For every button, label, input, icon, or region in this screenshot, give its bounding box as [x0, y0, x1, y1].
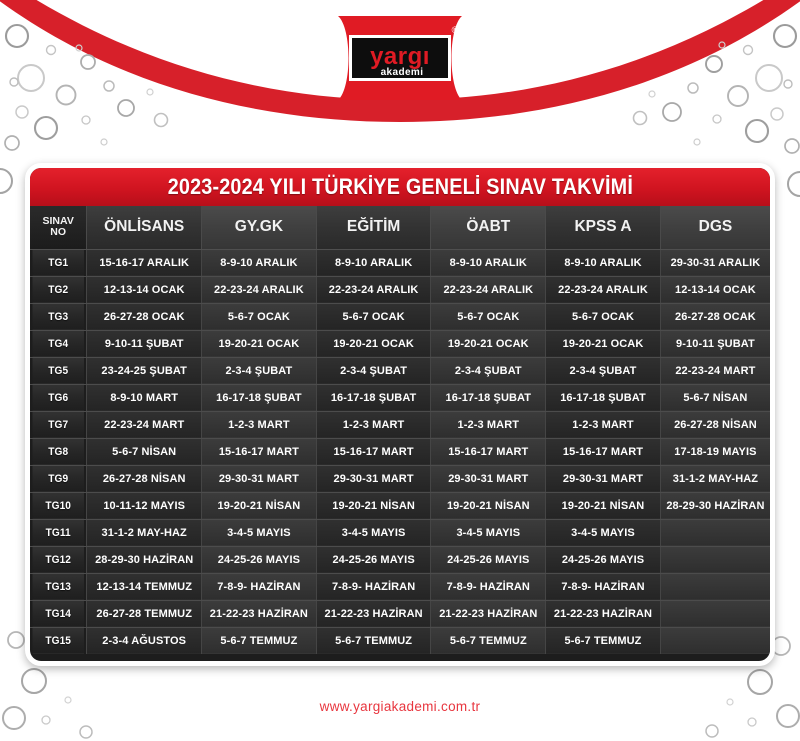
exam-date-cell: 5-6-7 TEMMUZ [546, 627, 661, 654]
exam-date-cell: 15-16-17 MART [202, 438, 317, 465]
exam-number-cell: TG9 [32, 465, 84, 492]
exam-calendar-card: 2023-2024 YILI TÜRKİYE GENELİ SINAV TAKV… [25, 163, 775, 666]
exam-number-cell: TG1 [32, 249, 84, 276]
exam-date-cell: 29-30-31 MART [316, 465, 431, 492]
table-row: TG85-6-7 NİSAN15-16-17 MART15-16-17 MART… [30, 438, 770, 465]
exam-date-cell: 19-20-21 NİSAN [202, 492, 317, 519]
exam-date-cell: 26-27-28 OCAK [87, 303, 202, 330]
website-url[interactable]: www.yargiakademi.com.tr [320, 699, 481, 714]
exam-date-cell: 3-4-5 MAYIS [316, 519, 431, 546]
page-header: yargı akademi ® [0, 0, 800, 150]
column-header-gygk: GY.GK [202, 206, 317, 249]
exam-date-cell: 22-23-24 ARALIK [316, 276, 431, 303]
exam-number-cell: TG8 [32, 438, 84, 465]
exam-number-cell: TG7 [32, 411, 84, 438]
exam-date-cell: 17-18-19 MAYIS [660, 438, 770, 465]
exam-date-cell: 12-13-14 TEMMUZ [87, 573, 202, 600]
exam-date-cell: 19-20-21 OCAK [546, 330, 661, 357]
table-row: TG1312-13-14 TEMMUZ7-8-9- HAZİRAN7-8-9- … [30, 573, 770, 600]
table-row: TG523-24-25 ŞUBAT2-3-4 ŞUBAT2-3-4 ŞUBAT2… [30, 357, 770, 384]
exam-date-cell: 2-3-4 ŞUBAT [431, 357, 546, 384]
calendar-title-bar: 2023-2024 YILI TÜRKİYE GENELİ SINAV TAKV… [30, 168, 770, 206]
exam-date-cell-empty [660, 519, 770, 546]
exam-date-cell: 7-8-9- HAZİRAN [316, 573, 431, 600]
exam-date-cell: 2-3-4 ŞUBAT [546, 357, 661, 384]
exam-date-cell: 21-22-23 HAZİRAN [431, 600, 546, 627]
table-row: TG115-16-17 ARALIK8-9-10 ARALIK8-9-10 AR… [30, 249, 770, 276]
exam-date-cell: 5-6-7 OCAK [202, 303, 317, 330]
logo-wordmark: yargı [370, 43, 430, 70]
exam-number-cell: TG4 [32, 330, 84, 357]
table-header-row: SINAV NO ÖNLİSANS GY.GK EĞİTİM ÖABT KPSS… [30, 206, 770, 249]
exam-number-cell: TG14 [32, 600, 84, 627]
exam-date-cell: 22-23-24 ARALIK [431, 276, 546, 303]
exam-date-cell: 1-2-3 MART [546, 411, 661, 438]
exam-date-cell: 10-11-12 MAYIS [87, 492, 202, 519]
table-row: TG722-23-24 MART1-2-3 MART1-2-3 MART1-2-… [30, 411, 770, 438]
exam-date-cell: 1-2-3 MART [431, 411, 546, 438]
column-header-oabt: ÖABT [431, 206, 546, 249]
exam-number-cell: TG15 [32, 627, 84, 654]
column-header-egitim: EĞİTİM [316, 206, 431, 249]
exam-date-cell: 5-6-7 TEMMUZ [316, 627, 431, 654]
exam-date-cell: 8-9-10 ARALIK [546, 249, 661, 276]
exam-date-cell: 5-6-7 TEMMUZ [431, 627, 546, 654]
registered-trademark-icon: ® [452, 25, 459, 35]
exam-date-cell: 19-20-21 OCAK [202, 330, 317, 357]
exam-date-cell: 9-10-11 ŞUBAT [660, 330, 770, 357]
exam-date-cell: 22-23-24 MART [660, 357, 770, 384]
table-row: TG1131-1-2 MAY-HAZ3-4-5 MAYIS3-4-5 MAYIS… [30, 519, 770, 546]
exam-date-cell: 31-1-2 MAY-HAZ [87, 519, 202, 546]
exam-date-cell: 22-23-24 MART [87, 411, 202, 438]
table-row: TG68-9-10 MART16-17-18 ŞUBAT16-17-18 ŞUB… [30, 384, 770, 411]
exam-number-cell: TG6 [32, 384, 84, 411]
table-head: SINAV NO ÖNLİSANS GY.GK EĞİTİM ÖABT KPSS… [30, 206, 770, 249]
exam-date-cell: 16-17-18 ŞUBAT [316, 384, 431, 411]
exam-date-cell: 15-16-17 MART [546, 438, 661, 465]
exam-date-cell: 1-2-3 MART [316, 411, 431, 438]
exam-date-cell: 29-30-31 MART [546, 465, 661, 492]
exam-date-cell: 26-27-28 NİSAN [87, 465, 202, 492]
exam-date-cell: 26-27-28 TEMMUZ [87, 600, 202, 627]
table-body: TG115-16-17 ARALIK8-9-10 ARALIK8-9-10 AR… [30, 249, 770, 654]
page-footer: www.yargiakademi.com.tr [0, 698, 800, 716]
exam-number-cell: TG13 [32, 573, 84, 600]
exam-number-cell: TG12 [32, 546, 84, 573]
exam-date-cell: 28-29-30 HAZİRAN [660, 492, 770, 519]
exam-date-cell: 2-3-4 ŞUBAT [316, 357, 431, 384]
exam-date-cell: 26-27-28 OCAK [660, 303, 770, 330]
exam-date-cell: 7-8-9- HAZİRAN [431, 573, 546, 600]
exam-date-cell: 29-30-31 ARALIK [660, 249, 770, 276]
exam-date-cell: 5-6-7 OCAK [546, 303, 661, 330]
exam-calendar-table: SINAV NO ÖNLİSANS GY.GK EĞİTİM ÖABT KPSS… [30, 206, 770, 654]
exam-date-cell: 5-6-7 OCAK [316, 303, 431, 330]
exam-date-cell: 29-30-31 MART [202, 465, 317, 492]
column-header-dgs: DGS [660, 206, 770, 249]
table-row: TG1010-11-12 MAYIS19-20-21 NİSAN19-20-21… [30, 492, 770, 519]
exam-date-cell: 29-30-31 MART [431, 465, 546, 492]
exam-date-cell: 24-25-26 MAYIS [431, 546, 546, 573]
exam-date-cell: 15-16-17 ARALIK [87, 249, 202, 276]
exam-date-cell: 7-8-9- HAZİRAN [202, 573, 317, 600]
column-header-kpss-a: KPSS A [546, 206, 661, 249]
exam-date-cell: 24-25-26 MAYIS [202, 546, 317, 573]
exam-number-cell: TG11 [32, 519, 84, 546]
exam-date-cell: 5-6-7 NİSAN [87, 438, 202, 465]
exam-date-cell: 16-17-18 ŞUBAT [431, 384, 546, 411]
exam-date-cell-empty [660, 573, 770, 600]
exam-date-cell: 24-25-26 MAYIS [316, 546, 431, 573]
table-row: TG152-3-4 AĞUSTOS5-6-7 TEMMUZ5-6-7 TEMMU… [30, 627, 770, 654]
exam-date-cell: 9-10-11 ŞUBAT [87, 330, 202, 357]
exam-date-cell: 5-6-7 TEMMUZ [202, 627, 317, 654]
exam-date-cell: 8-9-10 ARALIK [431, 249, 546, 276]
table-row: TG1228-29-30 HAZİRAN24-25-26 MAYIS24-25-… [30, 546, 770, 573]
exam-date-cell: 5-6-7 OCAK [431, 303, 546, 330]
table-row: TG212-13-14 OCAK22-23-24 ARALIK22-23-24 … [30, 276, 770, 303]
exam-date-cell: 16-17-18 ŞUBAT [202, 384, 317, 411]
table-row: TG926-27-28 NİSAN29-30-31 MART29-30-31 M… [30, 465, 770, 492]
exam-date-cell: 2-3-4 ŞUBAT [202, 357, 317, 384]
exam-date-cell: 21-22-23 HAZİRAN [202, 600, 317, 627]
exam-date-cell: 8-9-10 ARALIK [316, 249, 431, 276]
exam-date-cell: 3-4-5 MAYIS [431, 519, 546, 546]
exam-date-cell: 24-25-26 MAYIS [546, 546, 661, 573]
exam-date-cell: 22-23-24 ARALIK [202, 276, 317, 303]
exam-date-cell: 7-8-9- HAZİRAN [546, 573, 661, 600]
yargi-akademi-logo: yargı akademi ® [332, 14, 468, 102]
table-row: TG1426-27-28 TEMMUZ21-22-23 HAZİRAN21-22… [30, 600, 770, 627]
page-title: 2023-2024 YILI TÜRKİYE GENELİ SINAV TAKV… [167, 174, 632, 200]
exam-date-cell: 21-22-23 HAZİRAN [546, 600, 661, 627]
column-header-onlisans: ÖNLİSANS [87, 206, 202, 249]
column-header-sinav-no-line2: NO [50, 226, 66, 238]
exam-number-cell: TG5 [32, 357, 84, 384]
exam-date-cell: 15-16-17 MART [316, 438, 431, 465]
exam-date-cell-empty [660, 627, 770, 654]
exam-date-cell: 19-20-21 NİSAN [431, 492, 546, 519]
logo-svg: yargı akademi ® [332, 14, 468, 102]
table-row: TG49-10-11 ŞUBAT19-20-21 OCAK19-20-21 OC… [30, 330, 770, 357]
exam-date-cell: 19-20-21 OCAK [316, 330, 431, 357]
exam-date-cell: 19-20-21 OCAK [431, 330, 546, 357]
table-row: TG326-27-28 OCAK5-6-7 OCAK5-6-7 OCAK5-6-… [30, 303, 770, 330]
exam-date-cell: 19-20-21 NİSAN [316, 492, 431, 519]
exam-date-cell: 8-9-10 MART [87, 384, 202, 411]
exam-date-cell: 31-1-2 MAY-HAZ [660, 465, 770, 492]
exam-date-cell: 12-13-14 OCAK [660, 276, 770, 303]
exam-date-cell: 28-29-30 HAZİRAN [87, 546, 202, 573]
exam-date-cell: 15-16-17 MART [431, 438, 546, 465]
exam-number-cell: TG10 [32, 492, 84, 519]
column-header-sinav-no: SINAV NO [30, 206, 87, 249]
exam-date-cell: 19-20-21 NİSAN [546, 492, 661, 519]
exam-date-cell: 8-9-10 ARALIK [202, 249, 317, 276]
exam-date-cell: 16-17-18 ŞUBAT [546, 384, 661, 411]
exam-date-cell: 5-6-7 NİSAN [660, 384, 770, 411]
exam-number-cell: TG2 [32, 276, 84, 303]
exam-date-cell: 23-24-25 ŞUBAT [87, 357, 202, 384]
exam-date-cell: 26-27-28 NİSAN [660, 411, 770, 438]
exam-date-cell-empty [660, 600, 770, 627]
logo-subtext: akademi [381, 67, 424, 78]
exam-date-cell: 2-3-4 AĞUSTOS [87, 627, 202, 654]
exam-number-cell: TG3 [32, 303, 84, 330]
exam-date-cell: 21-22-23 HAZİRAN [316, 600, 431, 627]
exam-date-cell: 3-4-5 MAYIS [546, 519, 661, 546]
exam-date-cell: 3-4-5 MAYIS [202, 519, 317, 546]
exam-date-cell: 22-23-24 ARALIK [546, 276, 661, 303]
exam-date-cell: 1-2-3 MART [202, 411, 317, 438]
exam-date-cell-empty [660, 546, 770, 573]
exam-date-cell: 12-13-14 OCAK [87, 276, 202, 303]
